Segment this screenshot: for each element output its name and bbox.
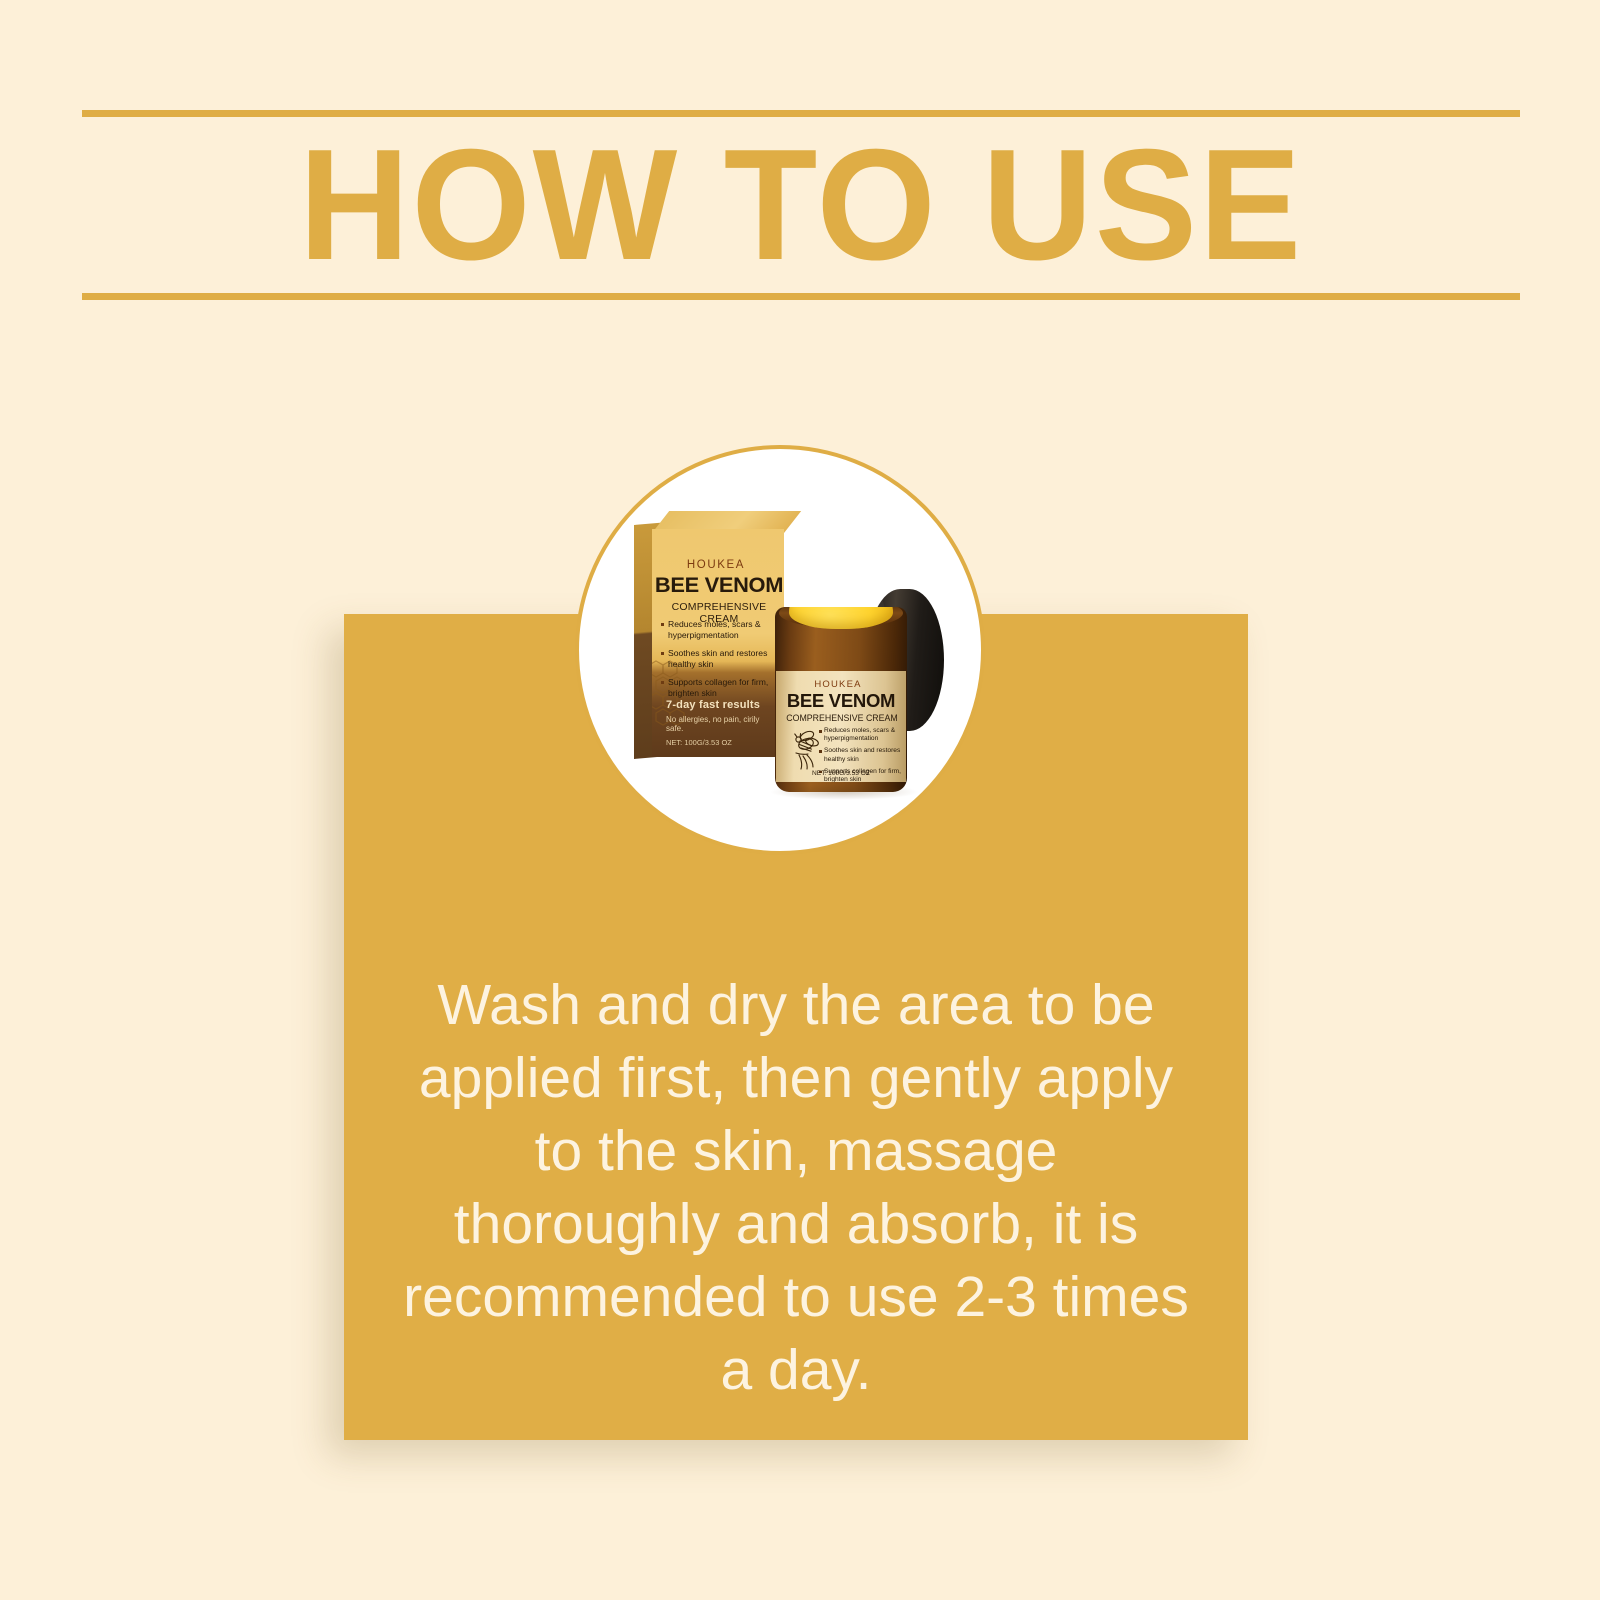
jar-benefit-item: Soothes skin and restores healthy skin <box>824 747 902 764</box>
header-rule-top <box>82 110 1520 117</box>
product-carton: HOUKEA BEE VENOM COMPREHENSIVE CREAM Red… <box>634 511 784 759</box>
jar-product-name: BEE VENOM <box>778 690 904 712</box>
poster-canvas: HOW TO USE Wash and dry the area to be a… <box>0 0 1600 1600</box>
product-image-circle: HOUKEA BEE VENOM COMPREHENSIVE CREAM Red… <box>575 445 985 855</box>
header: HOW TO USE <box>82 110 1520 300</box>
product-photo: HOUKEA BEE VENOM COMPREHENSIVE CREAM Red… <box>579 449 981 851</box>
jar-net-weight: NET: 100G/3.53 OZ <box>776 770 906 777</box>
page-title: HOW TO USE <box>104 118 1499 292</box>
carton-benefit-item: Soothes skin and restores healthy skin <box>668 648 778 670</box>
carton-claims: 7-day fast results No allergies, no pain… <box>666 699 778 747</box>
carton-product-name: BEE VENOM <box>653 574 784 598</box>
carton-claim-primary: 7-day fast results <box>666 699 778 711</box>
jar-body: HOUKEA BEE VENOM COMPREHENSIVE CREAM <box>775 607 907 792</box>
carton-claim-secondary: No allergies, no pain, cirily safe. <box>666 715 778 733</box>
carton-front-panel: HOUKEA BEE VENOM COMPREHENSIVE CREAM Red… <box>652 529 784 757</box>
jar-product-subtitle: COMPREHENSIVE CREAM <box>778 713 906 723</box>
cream-swirl <box>789 607 893 629</box>
jar-brand: HOUKEA <box>776 679 900 690</box>
product-jar: HOUKEA BEE VENOM COMPREHENSIVE CREAM <box>769 577 944 792</box>
header-rule-bottom <box>82 293 1520 300</box>
carton-brand: HOUKEA <box>652 559 780 571</box>
jar-shadow <box>769 784 919 800</box>
carton-benefit-list: Reduces moles, scars & hyperpigmentation… <box>668 619 778 706</box>
carton-benefit-item: Reduces moles, scars & hyperpigmentation <box>668 619 778 641</box>
jar-benefit-item: Reduces moles, scars & hyperpigmentation <box>824 727 902 744</box>
jar-label: HOUKEA BEE VENOM COMPREHENSIVE CREAM <box>776 671 906 782</box>
carton-benefit-item: Supports collagen for firm, brighten ski… <box>668 677 778 699</box>
carton-net-weight: NET: 100G/3.53 OZ <box>666 738 778 747</box>
instruction-text: Wash and dry the area to be applied firs… <box>399 969 1193 1407</box>
